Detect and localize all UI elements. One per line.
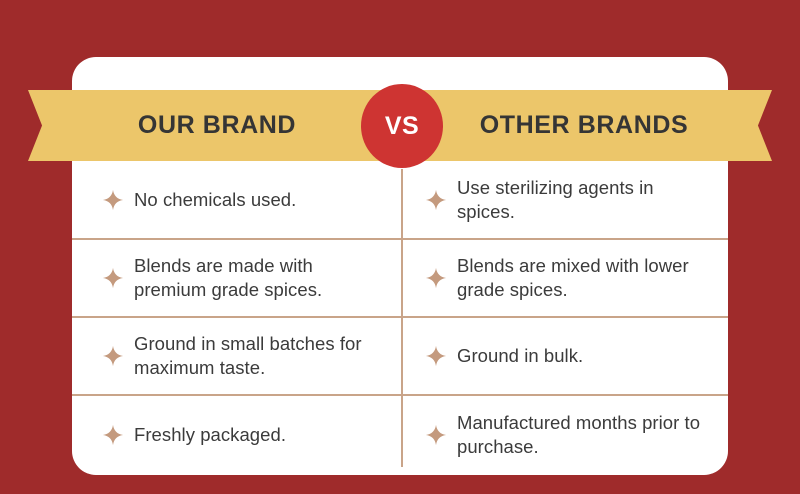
sparkle-icon	[102, 267, 124, 289]
header-title-other-brands-label: OTHER BRANDS	[480, 111, 689, 140]
list-item-text: Freshly packaged.	[134, 423, 286, 447]
table-row: Blends are made with premium grade spice…	[72, 239, 728, 317]
sparkle-icon	[425, 267, 447, 289]
list-item-text: Blends are mixed with lower grade spices…	[457, 254, 708, 302]
row-divider	[72, 316, 728, 318]
table-row: Ground in small batches for maximum tast…	[72, 317, 728, 395]
list-item-text: Manufactured months prior to purchase.	[457, 411, 708, 459]
comparison-grid: No chemicals used. Use sterilizing agent…	[72, 161, 728, 475]
row-divider	[72, 394, 728, 396]
vs-badge-label: VS	[385, 112, 419, 141]
header-title-other-brands: OTHER BRANDS	[440, 90, 728, 161]
list-item-text: Use sterilizing agents in spices.	[457, 176, 708, 224]
header-title-our-brand-label: OUR BRAND	[138, 111, 296, 140]
header-title-our-brand: OUR BRAND	[72, 90, 362, 161]
cell-our-brand-4: Freshly packaged.	[72, 395, 401, 475]
list-item-text: Ground in small batches for maximum tast…	[134, 332, 387, 380]
list-item-text: Ground in bulk.	[457, 344, 583, 368]
cell-our-brand-3: Ground in small batches for maximum tast…	[72, 317, 401, 395]
cell-our-brand-2: Blends are made with premium grade spice…	[72, 239, 401, 317]
sparkle-icon	[102, 424, 124, 446]
sparkle-icon	[425, 424, 447, 446]
list-item-text: Blends are made with premium grade spice…	[134, 254, 387, 302]
column-divider	[401, 169, 403, 467]
table-row: No chemicals used. Use sterilizing agent…	[72, 161, 728, 239]
cell-other-brands-3: Ground in bulk.	[401, 317, 728, 395]
cell-other-brands-4: Manufactured months prior to purchase.	[401, 395, 728, 475]
cell-our-brand-1: No chemicals used.	[72, 161, 401, 239]
cell-other-brands-1: Use sterilizing agents in spices.	[401, 161, 728, 239]
table-row: Freshly packaged. Manufactured months pr…	[72, 395, 728, 475]
sparkle-icon	[102, 189, 124, 211]
list-item-text: No chemicals used.	[134, 188, 296, 212]
cell-other-brands-2: Blends are mixed with lower grade spices…	[401, 239, 728, 317]
sparkle-icon	[425, 345, 447, 367]
row-divider	[72, 238, 728, 240]
sparkle-icon	[102, 345, 124, 367]
vs-badge: VS	[361, 84, 443, 168]
sparkle-icon	[425, 189, 447, 211]
